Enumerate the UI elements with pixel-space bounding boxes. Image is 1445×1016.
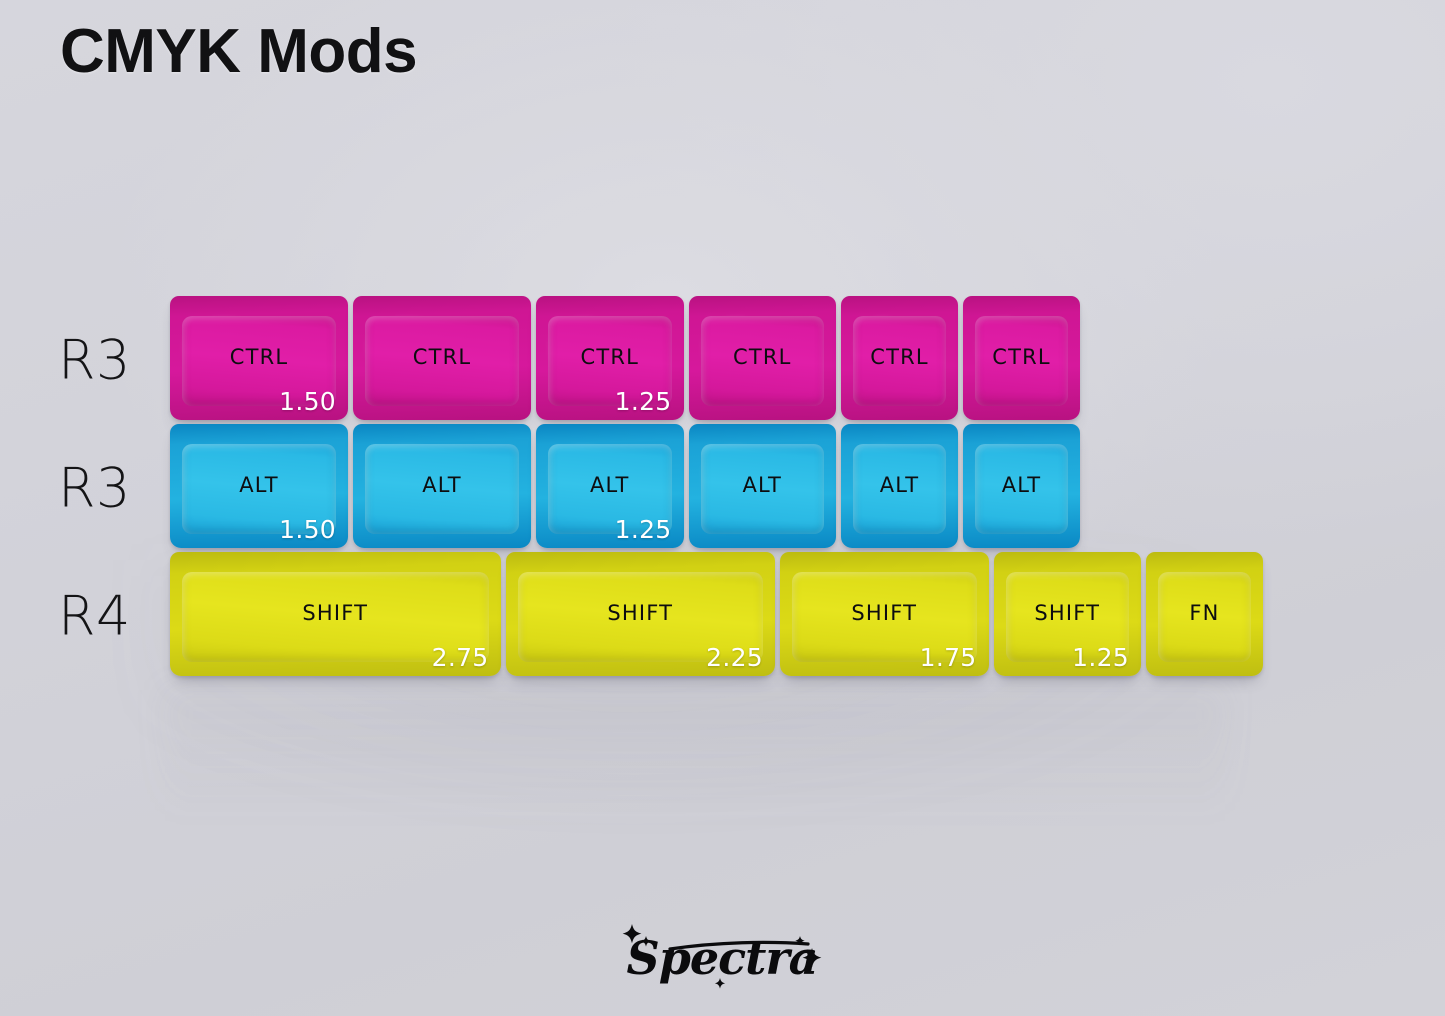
keycap-ctrl[interactable]: CTRL	[963, 296, 1080, 420]
keycap-size-label: 2.75	[432, 643, 489, 672]
page-title: CMYK Mods	[60, 16, 417, 87]
keycap-legend: ALT	[1002, 473, 1042, 497]
keycap-ctrl[interactable]: CTRL	[841, 296, 958, 420]
keycap-legend: CTRL	[580, 345, 639, 369]
keycap-legend: ALT	[880, 473, 920, 497]
keycap-legend: SHIFT	[607, 601, 673, 625]
keycap-alt[interactable]: ALT	[353, 424, 531, 548]
row-label: R3	[58, 457, 131, 520]
keycap-shift[interactable]: SHIFT1.75	[780, 552, 989, 676]
keycap-size-label: 1.50	[279, 515, 336, 544]
row-label: R3	[58, 329, 131, 392]
keycap-ctrl[interactable]: CTRL1.50	[170, 296, 348, 420]
keycap-top-surface: CTRL	[365, 316, 519, 406]
keycap-top-surface: CTRL	[975, 316, 1068, 406]
keycap-size-label: 1.75	[920, 643, 977, 672]
keycap-legend: CTRL	[230, 345, 289, 369]
keycap-top-surface: ALT	[701, 444, 825, 534]
keycap-top-surface: FN	[1158, 572, 1251, 662]
keycap-size-label: 1.25	[615, 387, 672, 416]
keycap-size-label: 1.50	[279, 387, 336, 416]
keycap-size-label: 1.25	[615, 515, 672, 544]
keycap-ctrl[interactable]: CTRL1.25	[536, 296, 684, 420]
keycap-legend: SHIFT	[851, 601, 917, 625]
keycap-alt[interactable]: ALT1.25	[536, 424, 684, 548]
keycap-alt[interactable]: ALT1.50	[170, 424, 348, 548]
keycap-legend: SHIFT	[302, 601, 368, 625]
keycap-ctrl[interactable]: CTRL	[353, 296, 531, 420]
keycap-alt[interactable]: ALT	[963, 424, 1080, 548]
keycap-size-label: 1.25	[1072, 643, 1129, 672]
keycap-legend: SHIFT	[1034, 601, 1100, 625]
keycap-top-surface: CTRL	[701, 316, 825, 406]
brand-logo: Spectra	[0, 912, 1445, 998]
keycap-shift[interactable]: SHIFT2.75	[170, 552, 501, 676]
brand-wordmark: Spectra	[626, 931, 817, 985]
keycap-alt[interactable]: ALT	[689, 424, 837, 548]
keycap-shift[interactable]: SHIFT1.25	[994, 552, 1142, 676]
keycap-top-surface: ALT	[853, 444, 946, 534]
keycap-legend: ALT	[590, 473, 630, 497]
keycap-legend: FN	[1189, 601, 1219, 625]
keycap-legend: CTRL	[992, 345, 1051, 369]
keycap-group: ALT1.50ALTALT1.25ALTALTALT	[170, 424, 1080, 548]
keycap-shift[interactable]: SHIFT2.25	[506, 552, 776, 676]
keycap-fn[interactable]: FN	[1146, 552, 1263, 676]
keycap-ctrl[interactable]: CTRL	[689, 296, 837, 420]
keycap-top-surface: CTRL	[853, 316, 946, 406]
keycap-legend: CTRL	[413, 345, 472, 369]
keycap-legend: CTRL	[870, 345, 929, 369]
keycap-group: SHIFT2.75SHIFT2.25SHIFT1.75SHIFT1.25FN	[170, 552, 1263, 676]
keycap-top-surface: ALT	[975, 444, 1068, 534]
keycap-legend: CTRL	[733, 345, 792, 369]
keycap-alt[interactable]: ALT	[841, 424, 958, 548]
keycap-legend: ALT	[742, 473, 782, 497]
keycap-size-label: 2.25	[706, 643, 763, 672]
keycap-group: CTRL1.50CTRLCTRL1.25CTRLCTRLCTRL	[170, 296, 1080, 420]
keycap-top-surface: ALT	[365, 444, 519, 534]
keycap-legend: ALT	[422, 473, 462, 497]
row-label: R4	[58, 585, 131, 648]
keycap-legend: ALT	[239, 473, 279, 497]
keycap-block-shadow-lower	[165, 690, 1225, 820]
